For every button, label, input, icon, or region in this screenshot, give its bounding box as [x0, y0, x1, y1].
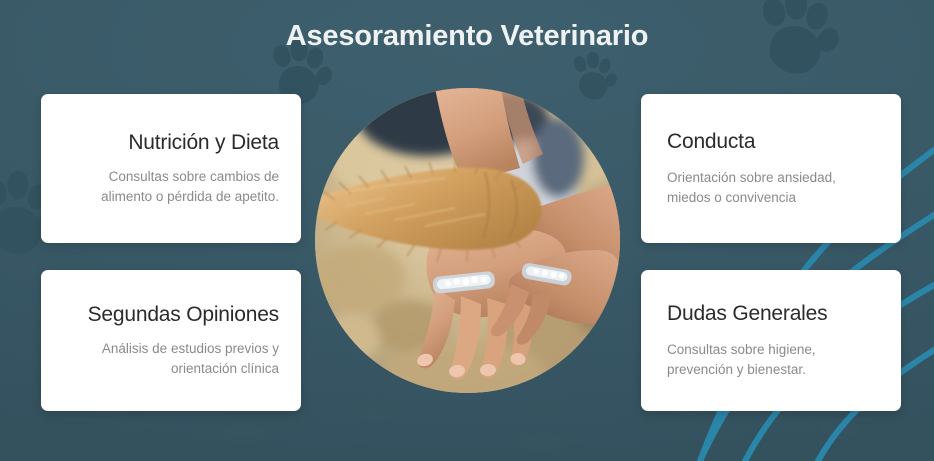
page-title: Asesoramiento Veterinario	[0, 20, 934, 53]
service-card-segundas-opiniones[interactable]: Segundas Opiniones Análisis de estudios …	[41, 270, 301, 411]
service-card-dudas-generales[interactable]: Dudas Generales Consultas sobre higiene,…	[641, 270, 901, 411]
card-description: Orientación sobre ansiedad, miedos o con…	[667, 168, 883, 206]
slide-canvas: Asesoramiento Veterinario	[0, 0, 934, 461]
card-description: Consultas sobre cambios de alimento o pé…	[59, 167, 279, 205]
card-title: Segundas Opiniones	[59, 303, 279, 327]
paw-in-hands-photo	[315, 88, 620, 393]
service-card-nutricion-y-dieta[interactable]: Nutrición y Dieta Consultas sobre cambio…	[41, 94, 301, 243]
card-description: Análisis de estudios previos y orientaci…	[59, 339, 279, 377]
card-title: Conducta	[667, 130, 883, 154]
hero-image	[315, 88, 620, 393]
card-title: Nutrición y Dieta	[59, 131, 279, 155]
service-card-conducta[interactable]: Conducta Orientación sobre ansiedad, mie…	[641, 94, 901, 243]
card-title: Dudas Generales	[667, 302, 883, 326]
card-description: Consultas sobre higiene, prevención y bi…	[667, 340, 883, 378]
